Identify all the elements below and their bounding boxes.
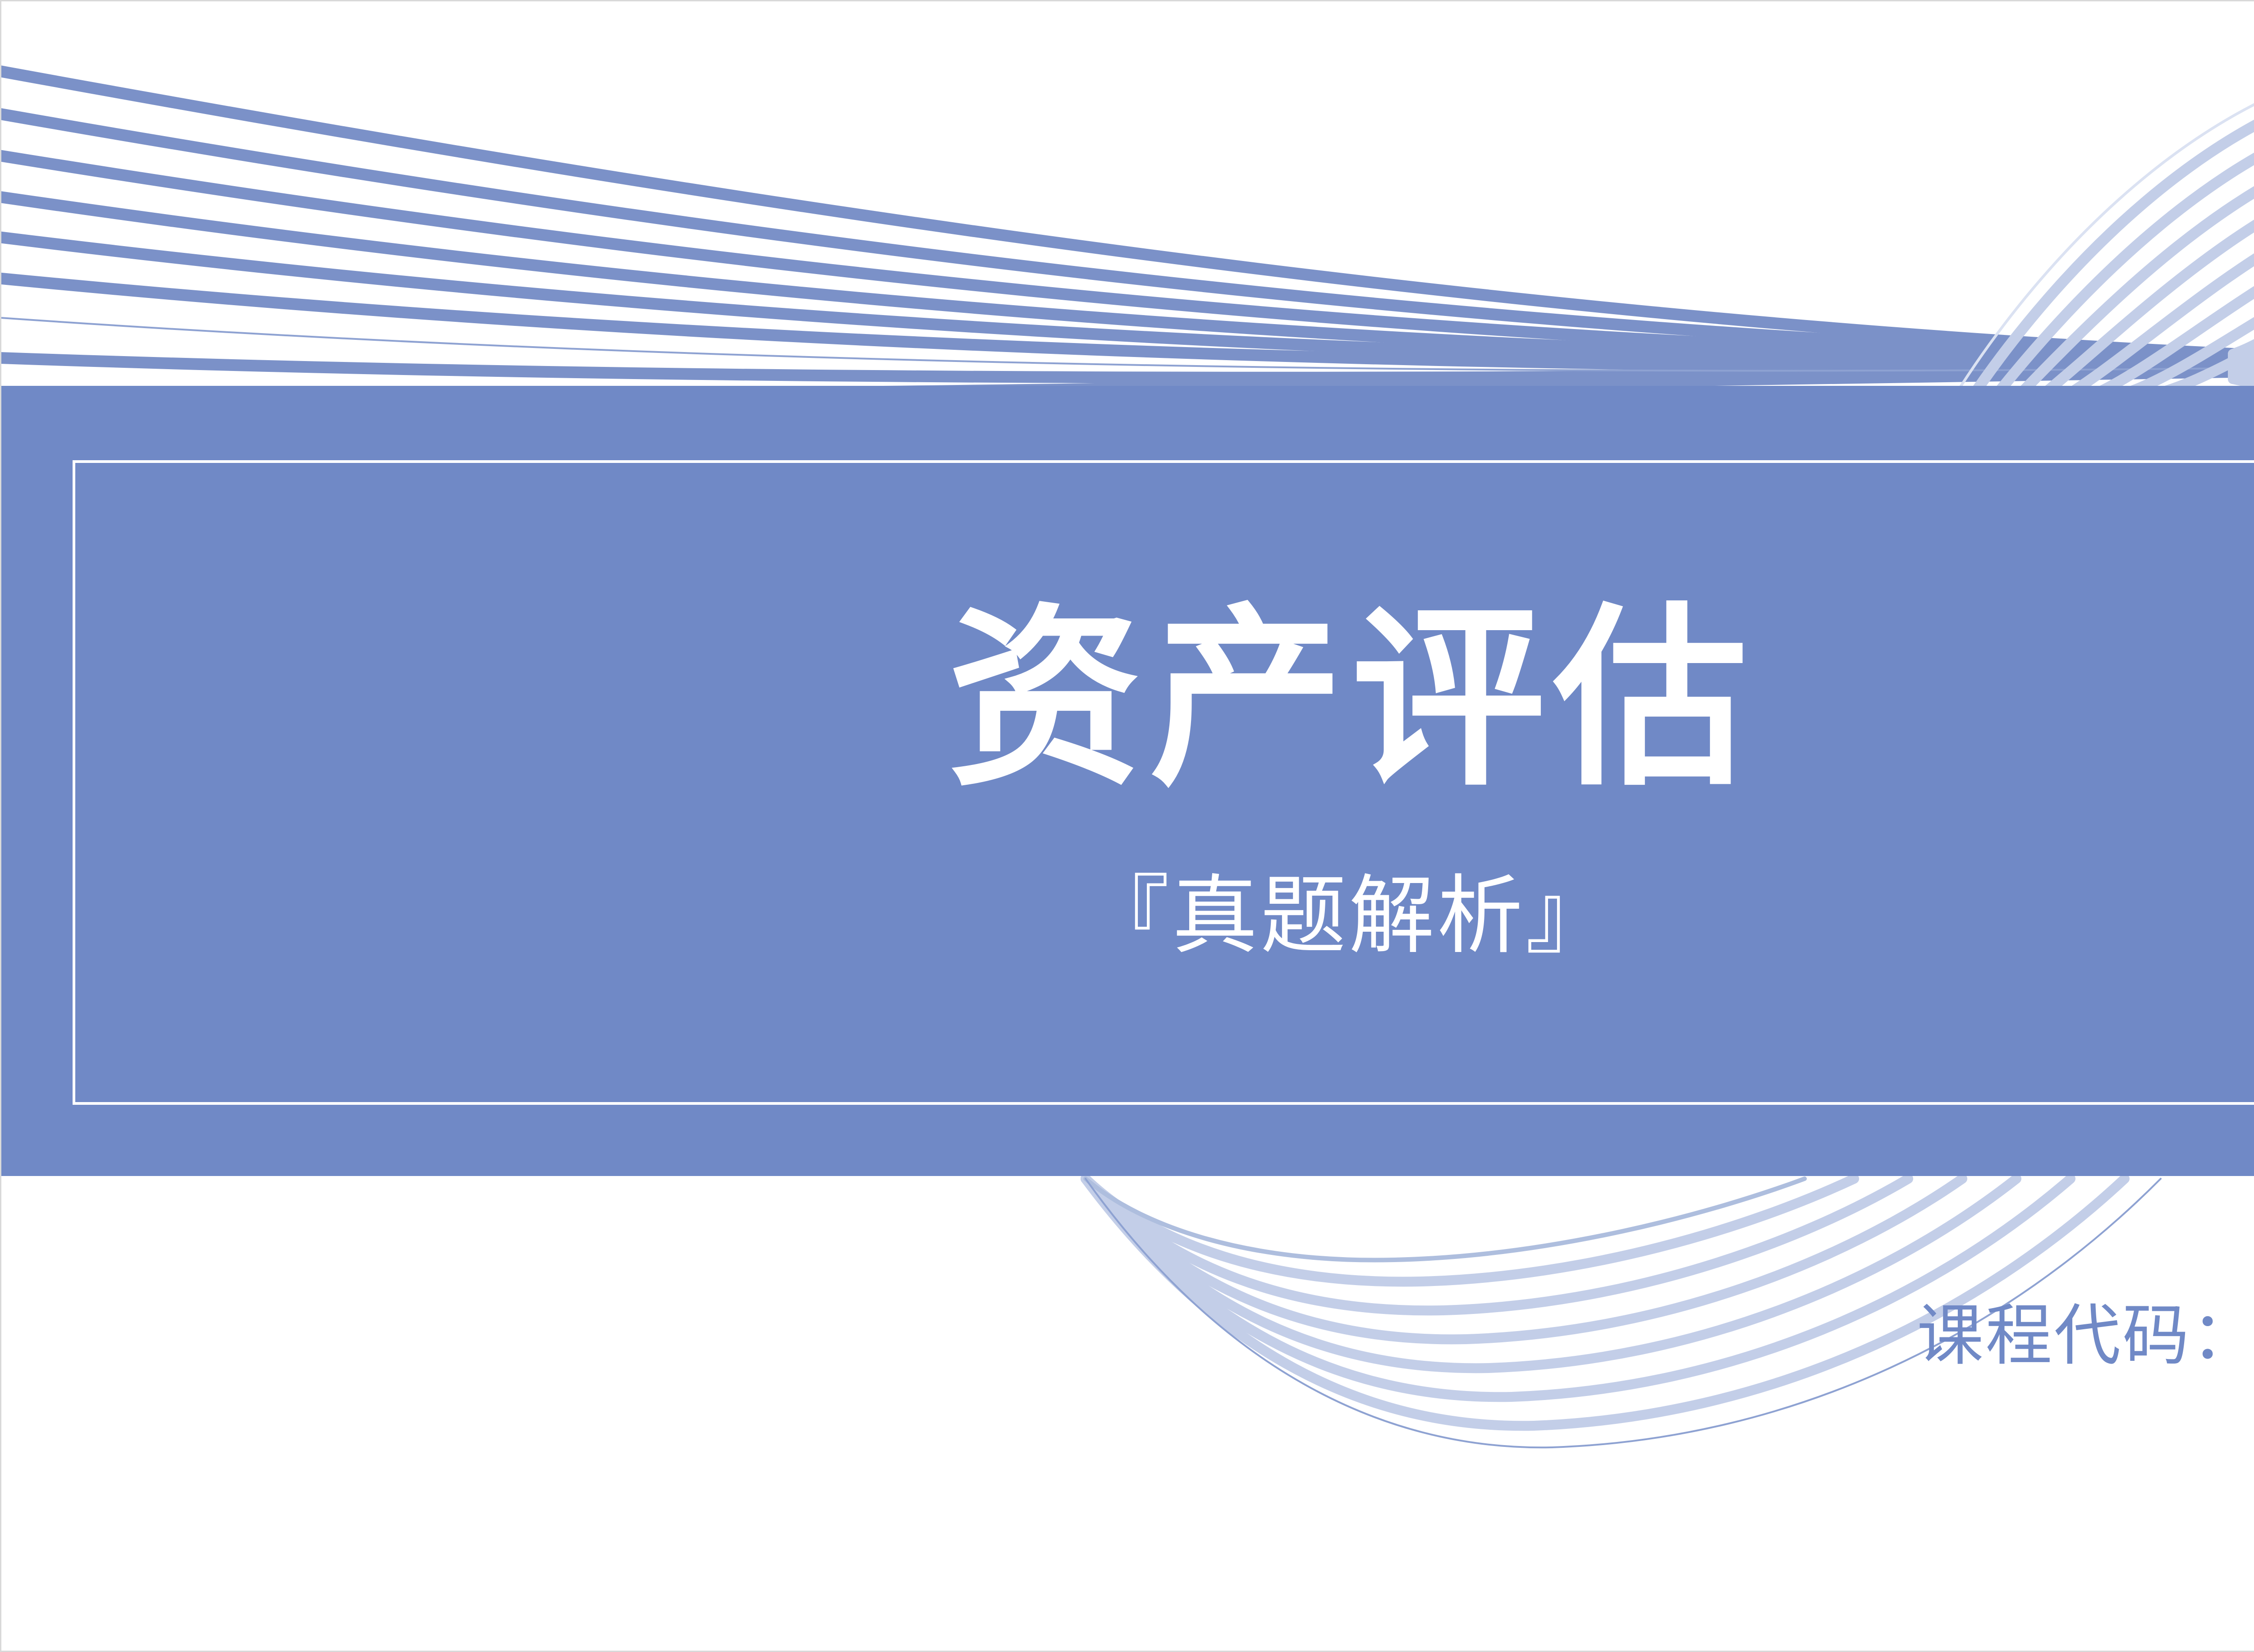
presentation-slide: 资产评估 『真题解析』 课程代码：00158 [0, 0, 2254, 1652]
page-subtitle: 『真题解析』 [1081, 869, 1614, 963]
banner-text-group: 资产评估 『真题解析』 [1, 386, 2254, 1176]
page-title: 资产评估 [939, 599, 1755, 801]
course-code-label: 课程代码：00158 [1917, 1296, 2254, 1376]
title-banner: 资产评估 『真题解析』 [1, 386, 2254, 1176]
